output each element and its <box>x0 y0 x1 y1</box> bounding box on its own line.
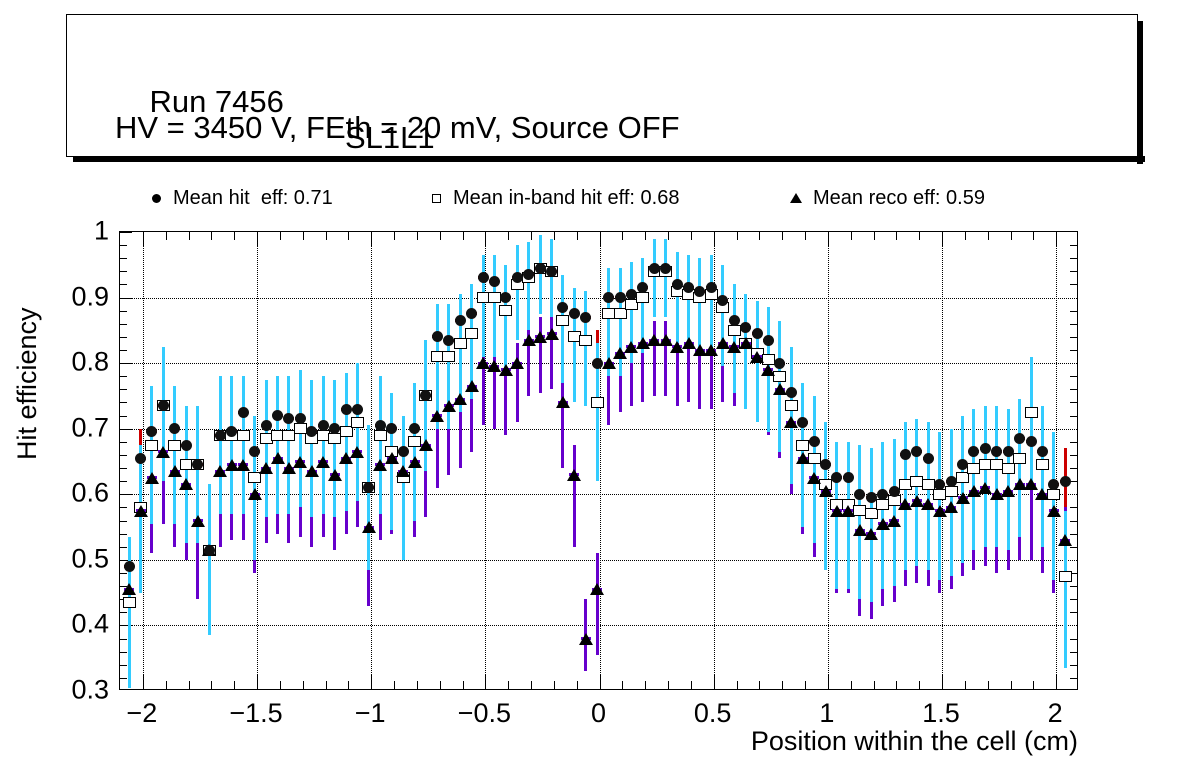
x-major-tick-top <box>942 232 943 246</box>
x-minor-tick <box>988 681 989 689</box>
x-minor-tick <box>896 681 897 689</box>
data-point-filled-circle <box>569 308 580 319</box>
error-bar <box>698 258 701 350</box>
x-major-tick-top <box>600 232 601 246</box>
error-bar <box>367 425 370 569</box>
data-point-filled-triangle <box>567 469 581 481</box>
data-point-filled-circle <box>432 331 443 342</box>
data-point-filled-circle <box>649 263 660 274</box>
data-point-filled-circle <box>409 423 420 434</box>
y-minor-tick <box>120 258 127 259</box>
data-point-filled-circle <box>580 312 591 323</box>
legend: Mean hit eff: 0.71 Mean in-band hit eff:… <box>119 172 1023 224</box>
x-tick-label: 1.5 <box>922 698 960 729</box>
x-major-tick <box>600 675 601 689</box>
x-minor-tick <box>440 681 441 689</box>
y-minor-tick-right <box>1070 547 1077 548</box>
legend-label-hit-eff: Mean hit eff: 0.71 <box>173 187 333 210</box>
error-bar <box>573 445 576 547</box>
y-minor-tick-right <box>1070 376 1077 377</box>
data-point-filled-triangle <box>510 357 524 369</box>
y-minor-tick <box>120 376 127 377</box>
error-bar <box>870 448 873 602</box>
y-minor-tick-right <box>1070 324 1077 325</box>
data-point-open-square <box>374 430 387 441</box>
y-minor-tick-right <box>1070 639 1077 640</box>
x-tick-label: −2 <box>126 698 157 729</box>
data-point-filled-circle <box>478 272 489 283</box>
data-point-filled-circle <box>740 322 751 333</box>
data-point-filled-triangle <box>1035 488 1049 500</box>
data-point-open-square <box>728 325 741 336</box>
x-axis-title: Position within the cell (cm) <box>751 726 1078 757</box>
x-minor-tick <box>1011 681 1012 689</box>
y-minor-tick-right <box>1070 586 1077 587</box>
x-tick-label: 0 <box>591 698 606 729</box>
filled-triangle-icon <box>779 193 813 203</box>
x-minor-tick-top <box>440 232 441 240</box>
x-major-tick-top <box>828 232 829 246</box>
data-point-open-square <box>351 417 364 428</box>
title-pave: Run 7456 SL1L1 HV = 3450 V, FEth = 20 mV… <box>66 14 1138 157</box>
y-tick-label: 0.3 <box>0 675 109 706</box>
data-point-filled-triangle <box>841 505 855 517</box>
data-point-filled-circle <box>489 276 500 287</box>
data-point-filled-circle <box>557 302 568 313</box>
y-major-tick <box>120 429 132 430</box>
error-bar <box>219 376 222 514</box>
x-major-tick-top <box>714 232 715 246</box>
error-bar <box>345 373 348 511</box>
x-tick-label: −0.5 <box>458 698 511 729</box>
x-minor-tick <box>759 681 760 689</box>
x-minor-tick-top <box>622 232 623 240</box>
data-point-open-square <box>454 338 467 349</box>
data-point-filled-circle <box>592 358 603 369</box>
x-minor-tick-top <box>988 232 989 240</box>
x-gridline <box>257 232 258 689</box>
x-minor-tick-top <box>531 232 532 240</box>
x-gridline <box>1056 232 1057 689</box>
data-point-filled-circle <box>866 492 877 503</box>
data-point-filled-triangle <box>236 459 250 471</box>
data-point-filled-circle <box>889 486 900 497</box>
y-minor-tick <box>120 573 127 574</box>
y-minor-tick-right <box>1070 245 1077 246</box>
x-minor-tick <box>645 681 646 689</box>
error-bar <box>881 442 884 590</box>
y-minor-tick <box>120 350 127 351</box>
error-bar <box>539 317 542 392</box>
y-major-tick <box>120 298 132 299</box>
x-gridline <box>371 232 372 689</box>
data-point-filled-circle <box>1026 436 1037 447</box>
error-bar <box>299 370 302 508</box>
data-point-filled-circle <box>283 413 294 424</box>
error-bar <box>710 255 713 347</box>
x-major-tick-top <box>1056 232 1057 246</box>
y-minor-tick <box>120 678 127 679</box>
x-minor-tick <box>508 681 509 689</box>
y-minor-tick-right <box>1070 284 1077 285</box>
error-bar <box>287 376 290 514</box>
x-minor-tick <box>874 681 875 689</box>
data-point-filled-triangle <box>807 472 821 484</box>
data-point-filled-circle <box>603 292 614 303</box>
data-point-filled-triangle <box>1047 505 1061 517</box>
x-minor-tick-top <box>759 232 760 240</box>
y-minor-tick-right <box>1070 521 1077 522</box>
legend-entry-hit-eff: Mean hit eff: 0.71 <box>139 172 333 224</box>
data-point-open-square <box>614 308 627 319</box>
data-point-filled-circle <box>466 308 477 319</box>
x-minor-tick <box>189 681 190 689</box>
error-bar <box>527 321 530 396</box>
data-point-filled-circle <box>843 472 854 483</box>
y-gridline <box>120 298 1077 299</box>
y-minor-tick-right <box>1070 481 1077 482</box>
data-point-open-square <box>442 351 455 362</box>
data-point-filled-circle <box>752 328 763 339</box>
x-major-tick <box>371 675 372 689</box>
x-minor-tick <box>782 681 783 689</box>
data-point-filled-circle <box>124 561 135 572</box>
x-minor-tick <box>1033 681 1034 689</box>
x-minor-tick <box>737 681 738 689</box>
error-bar <box>904 422 907 570</box>
title-pave-shadow-bottom <box>73 156 1145 162</box>
x-minor-tick <box>166 681 167 689</box>
x-gridline <box>942 232 943 689</box>
data-point-open-square <box>499 305 512 316</box>
data-point-open-square <box>1013 453 1026 464</box>
x-minor-tick <box>691 681 692 689</box>
x-major-tick-top <box>143 232 144 246</box>
data-point-open-square <box>237 430 250 441</box>
data-point-filled-circle <box>204 545 215 556</box>
data-point-filled-circle <box>626 289 637 300</box>
x-minor-tick-top <box>234 232 235 240</box>
data-point-filled-circle <box>980 443 991 454</box>
data-point-filled-triangle <box>773 383 787 395</box>
x-major-tick-top <box>257 232 258 246</box>
data-point-filled-triangle <box>419 439 433 451</box>
error-bar <box>1041 406 1044 547</box>
legend-label-inband-eff: Mean in-band hit eff: 0.68 <box>453 187 679 210</box>
data-point-filled-circle <box>1037 446 1048 457</box>
filled-circle-icon <box>139 194 173 203</box>
data-point-filled-circle <box>774 358 785 369</box>
x-minor-tick-top <box>394 232 395 240</box>
error-bar <box>356 363 359 501</box>
data-point-filled-circle <box>957 459 968 470</box>
x-minor-tick-top <box>1033 232 1034 240</box>
error-bar <box>984 406 987 547</box>
data-point-filled-circle <box>215 430 226 441</box>
data-point-open-square <box>956 472 969 483</box>
x-minor-tick-top <box>874 232 875 240</box>
x-minor-tick-top <box>463 232 464 240</box>
data-point-filled-circle <box>911 446 922 457</box>
data-point-filled-triangle <box>739 337 753 349</box>
data-point-filled-circle <box>809 436 820 447</box>
data-point-filled-triangle <box>134 505 148 517</box>
x-minor-tick-top <box>554 232 555 240</box>
data-point-open-square <box>1036 459 1049 470</box>
data-point-filled-circle <box>341 404 352 415</box>
legend-entry-reco-eff: Mean reco eff: 0.59 <box>779 172 985 224</box>
data-point-filled-circle <box>1003 446 1014 457</box>
data-point-filled-circle <box>991 446 1002 457</box>
data-point-filled-triangle <box>465 380 479 392</box>
x-tick-label: 0.5 <box>694 698 732 729</box>
y-minor-tick-right <box>1070 350 1077 351</box>
x-minor-tick-top <box>326 232 327 240</box>
x-major-tick <box>257 675 258 689</box>
data-point-open-square <box>465 328 478 339</box>
legend-label-reco-eff: Mean reco eff: 0.59 <box>813 187 985 210</box>
error-bar <box>424 340 427 471</box>
x-minor-tick-top <box>303 232 304 240</box>
data-point-filled-triangle <box>191 515 205 527</box>
y-minor-tick <box>120 639 127 640</box>
conditions-label: HV = 3450 V, FEth = 20 mV, Source OFF <box>115 110 680 146</box>
x-minor-tick <box>280 681 281 689</box>
x-major-tick <box>485 675 486 689</box>
data-point-filled-circle <box>854 489 865 500</box>
y-minor-tick <box>120 284 127 285</box>
data-point-filled-circle <box>694 286 705 297</box>
data-point-filled-triangle <box>122 583 136 595</box>
y-minor-tick-right <box>1070 665 1077 666</box>
x-minor-tick-top <box>211 232 212 240</box>
error-bar <box>961 416 964 564</box>
x-minor-tick-top <box>896 232 897 240</box>
data-point-open-square <box>1059 571 1072 582</box>
data-point-filled-circle <box>877 489 888 500</box>
error-bar <box>550 314 553 389</box>
x-minor-tick <box>622 681 623 689</box>
data-point-filled-triangle <box>248 488 262 500</box>
error-bar <box>664 321 667 396</box>
y-minor-tick-right <box>1070 678 1077 679</box>
y-minor-tick <box>120 271 127 272</box>
data-point-open-square <box>785 400 798 411</box>
x-minor-tick <box>965 681 966 689</box>
x-minor-tick-top <box>965 232 966 240</box>
plot-area <box>120 232 1077 689</box>
error-bar <box>915 419 918 567</box>
y-minor-tick-right <box>1070 402 1077 403</box>
data-point-filled-circle <box>786 387 797 398</box>
error-bar <box>413 383 416 521</box>
x-minor-tick <box>326 681 327 689</box>
error-bar <box>310 380 313 518</box>
y-tick-label: 0.6 <box>0 478 109 509</box>
error-bar <box>744 294 747 409</box>
data-point-filled-circle <box>398 446 409 457</box>
x-minor-tick <box>211 681 212 689</box>
data-point-filled-circle <box>535 263 546 274</box>
data-point-filled-triangle <box>145 472 159 484</box>
y-minor-tick <box>120 665 127 666</box>
data-point-filled-triangle <box>796 452 810 464</box>
y-minor-tick-right <box>1070 599 1077 600</box>
error-bar <box>813 396 816 544</box>
error-bar <box>596 553 599 655</box>
data-point-filled-circle <box>831 472 842 483</box>
y-minor-tick-right <box>1070 442 1077 443</box>
data-point-open-square <box>488 292 501 303</box>
y-minor-tick <box>120 311 127 312</box>
error-bar <box>482 255 485 357</box>
data-point-filled-triangle <box>761 364 775 376</box>
error-bar <box>527 242 530 331</box>
y-axis-title: Hit efficiency <box>12 307 43 460</box>
y-minor-tick <box>120 324 127 325</box>
data-point-filled-triangle <box>156 446 170 458</box>
y-minor-tick <box>120 547 127 548</box>
y-minor-tick-right <box>1070 455 1077 456</box>
y-minor-tick-right <box>1070 311 1077 312</box>
x-major-tick <box>143 675 144 689</box>
error-bar <box>619 268 622 376</box>
data-point-filled-triangle <box>579 633 593 645</box>
y-minor-tick-right <box>1070 337 1077 338</box>
data-point-filled-triangle <box>819 485 833 497</box>
x-major-tick <box>942 675 943 689</box>
y-tick-label: 1 <box>0 216 109 247</box>
y-tick-label: 0.4 <box>0 609 109 640</box>
y-minor-tick <box>120 468 127 469</box>
x-minor-tick-top <box>166 232 167 240</box>
x-minor-tick-top <box>668 232 669 240</box>
data-point-filled-circle <box>968 446 979 457</box>
legend-entry-inband-eff: Mean in-band hit eff: 0.68 <box>419 172 679 224</box>
data-point-filled-circle <box>272 410 283 421</box>
x-minor-tick-top <box>508 232 509 240</box>
data-point-filled-triangle <box>784 416 798 428</box>
error-bar <box>265 380 268 518</box>
x-minor-tick-top <box>782 232 783 240</box>
error-bar <box>493 255 496 357</box>
error-bar <box>1018 399 1021 537</box>
data-point-filled-circle <box>375 420 386 431</box>
data-point-open-square <box>1002 463 1015 474</box>
y-major-tick <box>120 494 132 495</box>
x-major-tick-top <box>485 232 486 246</box>
x-major-tick-top <box>371 232 372 246</box>
y-major-tick <box>120 363 132 364</box>
error-bar <box>561 275 564 383</box>
data-point-filled-triangle <box>408 456 422 468</box>
x-minor-tick <box>851 681 852 689</box>
y-minor-tick <box>120 442 127 443</box>
data-point-filled-circle <box>261 420 272 431</box>
y-minor-tick <box>120 416 127 417</box>
error-bar <box>516 245 519 340</box>
error-bar <box>721 265 724 367</box>
data-point-filled-circle <box>455 315 466 326</box>
y-major-tick <box>120 232 132 233</box>
y-minor-tick-right <box>1070 271 1077 272</box>
data-point-filled-triangle <box>545 328 559 340</box>
error-bar <box>333 380 336 518</box>
data-point-filled-circle <box>169 423 180 434</box>
y-minor-tick <box>120 337 127 338</box>
x-tick-label: 1 <box>819 698 834 729</box>
error-bar <box>573 288 576 403</box>
x-tick-label: −1.5 <box>229 698 282 729</box>
data-point-filled-triangle <box>179 478 193 490</box>
data-point-open-square <box>556 315 569 326</box>
x-gridline <box>714 232 715 689</box>
data-point-filled-circle <box>1014 433 1025 444</box>
data-point-filled-circle <box>135 453 146 464</box>
x-tick-label: 2 <box>1048 698 1063 729</box>
x-minor-tick <box>463 681 464 689</box>
data-point-filled-circle <box>318 420 329 431</box>
error-bar <box>208 484 211 635</box>
error-bar <box>653 321 656 396</box>
x-minor-tick <box>805 681 806 689</box>
y-minor-tick-right <box>1070 468 1077 469</box>
y-tick-label: 0.5 <box>0 543 109 574</box>
y-minor-tick <box>120 402 127 403</box>
data-point-filled-triangle <box>556 396 570 408</box>
y-minor-tick <box>120 652 127 653</box>
x-major-tick <box>714 675 715 689</box>
y-minor-tick <box>120 507 127 508</box>
y-minor-tick-right <box>1070 507 1077 508</box>
data-point-filled-triangle <box>362 521 376 533</box>
plot-frame <box>119 231 1078 690</box>
x-minor-tick-top <box>1011 232 1012 240</box>
error-bar <box>402 416 405 560</box>
x-minor-tick <box>919 681 920 689</box>
error-bar <box>139 445 142 593</box>
data-point-open-square <box>796 440 809 451</box>
data-point-filled-circle <box>249 446 260 457</box>
error-bar <box>1007 409 1010 550</box>
x-minor-tick-top <box>348 232 349 240</box>
error-bar <box>379 376 382 514</box>
x-minor-tick <box>554 681 555 689</box>
y-minor-tick <box>120 612 127 613</box>
y-minor-tick <box>120 481 127 482</box>
x-minor-tick-top <box>851 232 852 240</box>
data-point-filled-circle <box>729 315 740 326</box>
x-minor-tick-top <box>189 232 190 240</box>
y-minor-tick-right <box>1070 612 1077 613</box>
error-bar <box>653 239 656 318</box>
error-bar <box>972 409 975 550</box>
error-bar <box>995 406 998 547</box>
x-minor-tick <box>531 681 532 689</box>
error-bar <box>733 284 736 392</box>
data-point-filled-circle <box>923 453 934 464</box>
data-point-filled-circle <box>1060 476 1071 487</box>
data-point-filled-circle <box>386 423 397 434</box>
data-point-filled-circle <box>615 292 626 303</box>
y-minor-tick <box>120 534 127 535</box>
error-bar <box>858 445 861 599</box>
y-minor-tick-right <box>1070 389 1077 390</box>
data-point-open-square <box>579 335 592 346</box>
error-bar <box>676 252 679 344</box>
data-point-filled-circle <box>946 476 957 487</box>
x-minor-tick-top <box>691 232 692 240</box>
